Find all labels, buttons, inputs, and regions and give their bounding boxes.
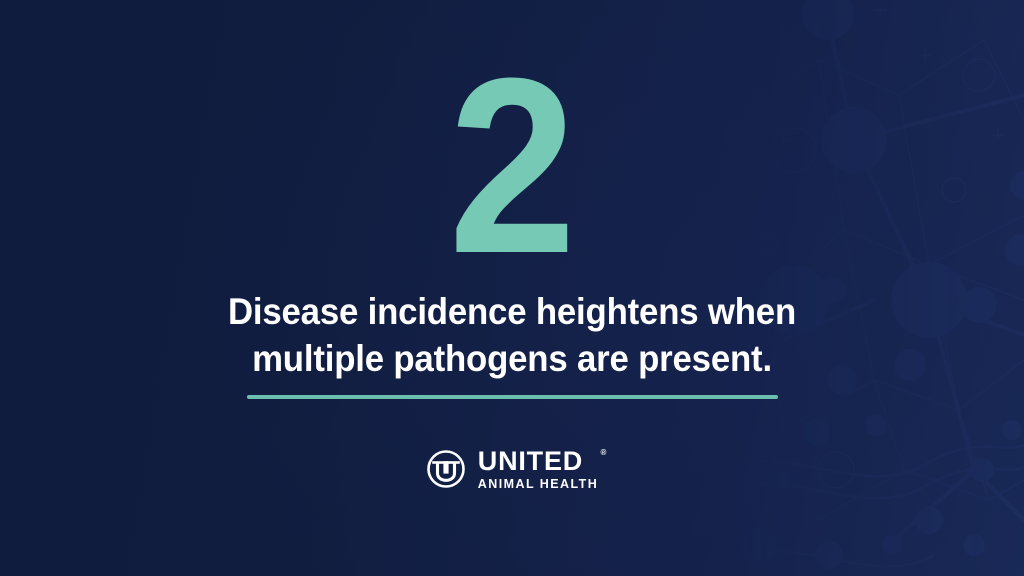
slide-content: 2 Disease incidence heightens when multi… xyxy=(0,0,1024,576)
circle-u-logo-icon xyxy=(426,449,466,489)
headline: Disease incidence heightens when multipl… xyxy=(183,289,841,382)
logo-wordmark: UNITED ® ANIMAL HEALTH xyxy=(478,448,598,491)
united-animal-health-logo: UNITED ® ANIMAL HEALTH xyxy=(426,448,598,491)
logo-title-text: UNITED xyxy=(478,446,583,476)
slide-number: 2 xyxy=(449,58,575,273)
logo-subtitle: ANIMAL HEALTH xyxy=(478,478,598,491)
accent-divider xyxy=(247,395,778,399)
headline-line-2: multiple pathogens are present. xyxy=(183,336,841,383)
registered-trademark-icon: ® xyxy=(601,449,608,457)
headline-line-1: Disease incidence heightens when xyxy=(183,289,841,336)
logo-title: UNITED ® xyxy=(478,448,598,475)
slide-root: 2 Disease incidence heightens when multi… xyxy=(0,0,1024,576)
